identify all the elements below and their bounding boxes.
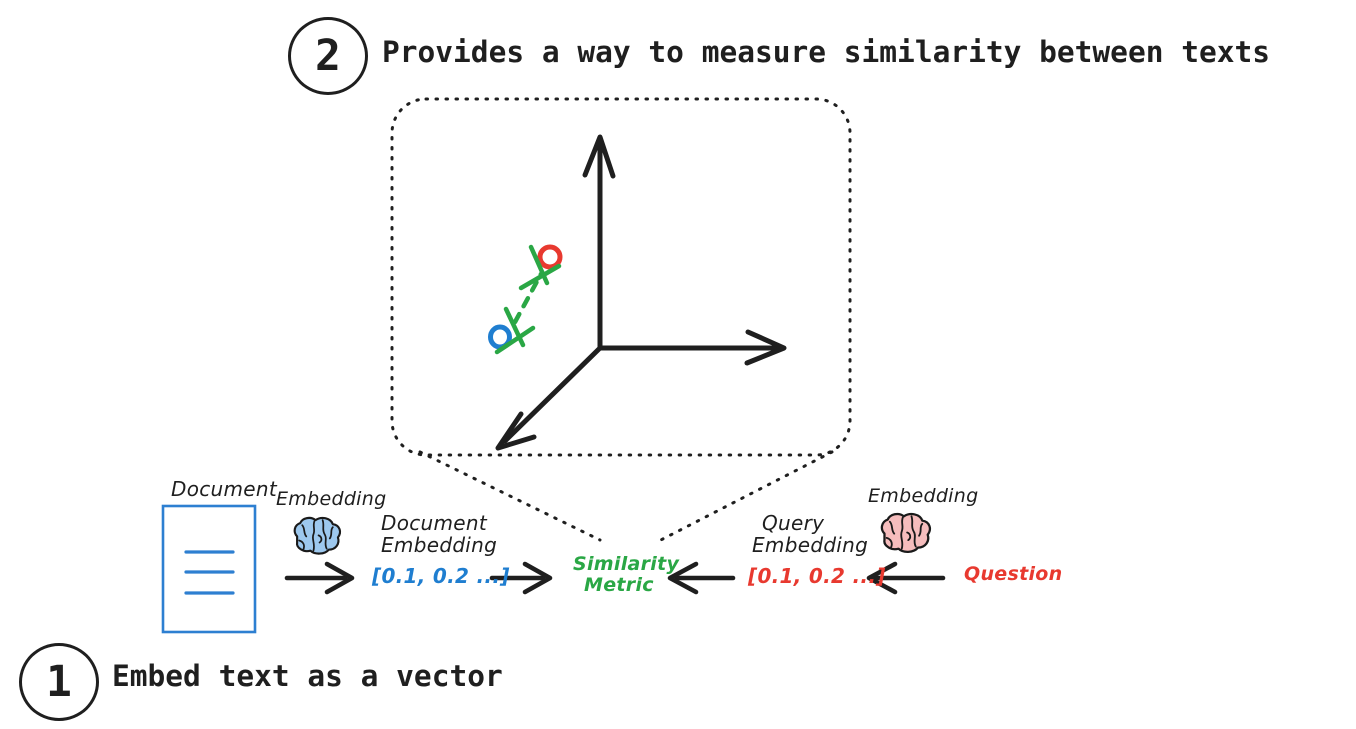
query-embedding-label-line1: Query [762, 512, 824, 534]
brain-icon-query [882, 514, 930, 552]
vector-space-boundary [392, 99, 850, 455]
document-embedding-label-line1: Document [381, 512, 487, 534]
question-label: Question [964, 564, 1062, 585]
axis-group [498, 137, 784, 448]
step-1-number: 1 [46, 657, 72, 707]
arrow-doc-to-embedding [287, 564, 352, 592]
brain-icon-document [295, 518, 340, 554]
query-vector-value: [0.1, 0.2 ...] [748, 565, 886, 587]
diagram-canvas: 2 Provides a way to measure similarity b… [0, 0, 1356, 729]
embedding-points [491, 247, 561, 347]
document-embedding-label-line2: Embedding [381, 534, 497, 556]
embedding-label-right: Embedding [868, 486, 978, 507]
query-point [540, 247, 560, 267]
step-2-text: Provides a way to measure similarity bet… [382, 35, 1270, 69]
step-1-badge: 1 [19, 643, 99, 721]
diagram-artwork [0, 0, 1356, 729]
document-point [491, 327, 510, 347]
embedding-label-left: Embedding [276, 489, 386, 510]
z-axis [498, 348, 600, 448]
document-label: Document [171, 478, 277, 500]
similarity-metric-label-line2: Metric [584, 575, 654, 596]
step-2-badge: 2 [288, 17, 368, 95]
similarity-metric-label-line1: Similarity [573, 554, 679, 575]
similarity-distance-marker [497, 247, 559, 352]
arrow-queryvec-to-similarity [670, 564, 733, 592]
y-axis [585, 137, 613, 348]
x-axis [600, 332, 784, 363]
document-vector-value: [0.1, 0.2 ...] [372, 565, 510, 587]
step-2-number: 2 [315, 31, 341, 81]
step-1-text: Embed text as a vector [112, 659, 503, 693]
query-embedding-label-line2: Embedding [752, 534, 868, 556]
document-icon [163, 506, 255, 632]
